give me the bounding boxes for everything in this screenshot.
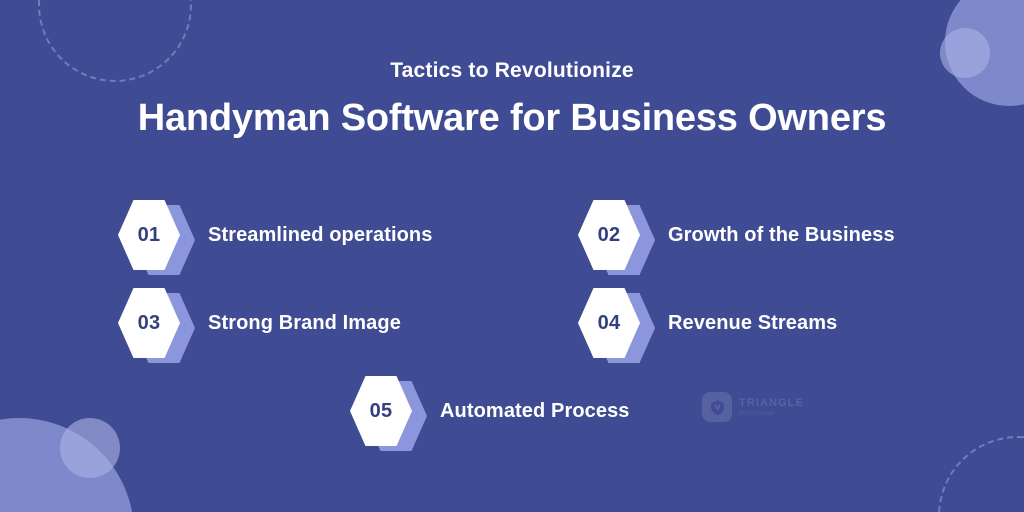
tactics-row-2: 03 Strong Brand Image 04 Revenue Streams: [0, 284, 1024, 372]
badge-number: 04: [598, 312, 621, 335]
list-item-01[interactable]: 01 Streamlined operations: [118, 196, 432, 274]
tactics-list: 01 Streamlined operations 02 Growth of t…: [0, 196, 1024, 460]
hexagon-badge-05: 05: [350, 376, 426, 446]
poster-subtitle: Tactics to Revolutionize: [0, 58, 1024, 84]
list-item-label: Strong Brand Image: [208, 312, 401, 335]
list-item-label: Automated Process: [440, 400, 630, 423]
badge-number: 01: [138, 224, 161, 247]
badge-number: 02: [598, 224, 621, 247]
hexagon-badge-03: 03: [118, 288, 194, 358]
list-item-03[interactable]: 03 Strong Brand Image: [118, 284, 401, 362]
list-item-02[interactable]: 02 Growth of the Business: [578, 196, 895, 274]
poster-header: Tactics to Revolutionize Handyman Softwa…: [0, 58, 1024, 141]
badge-number: 05: [370, 400, 393, 423]
tactics-row-3: 05 Automated Process: [0, 372, 1024, 460]
list-item-04[interactable]: 04 Revenue Streams: [578, 284, 837, 362]
infographic-poster: Tactics to Revolutionize Handyman Softwa…: [0, 0, 1024, 512]
hexagon-badge-02: 02: [578, 200, 654, 270]
hexagon-badge-01: 01: [118, 200, 194, 270]
list-item-label: Streamlined operations: [208, 224, 432, 247]
list-item-05[interactable]: 05 Automated Process: [350, 372, 630, 450]
list-item-label: Growth of the Business: [668, 224, 895, 247]
hexagon-badge-04: 04: [578, 288, 654, 358]
tactics-row-1: 01 Streamlined operations 02 Growth of t…: [0, 196, 1024, 284]
list-item-label: Revenue Streams: [668, 312, 837, 335]
page-title: Handyman Software for Business Owners: [0, 95, 1024, 141]
badge-number: 03: [138, 312, 161, 335]
